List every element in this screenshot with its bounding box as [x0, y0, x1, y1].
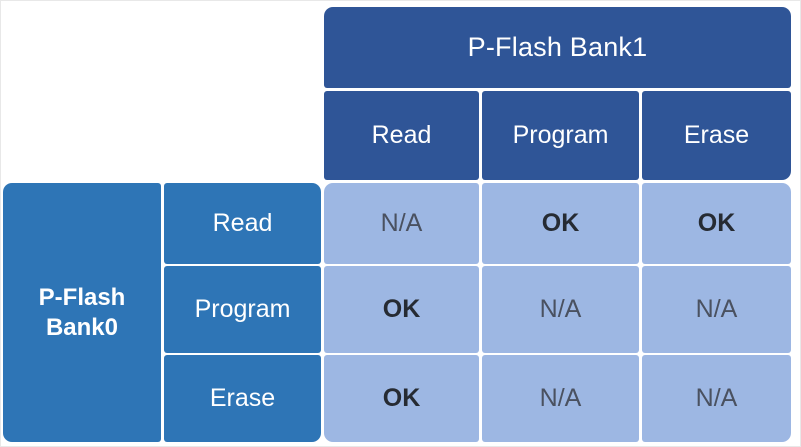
cell-program-erase: N/A	[642, 266, 791, 353]
cell-erase-erase: N/A	[642, 355, 791, 442]
row-header-program: Program	[164, 266, 321, 353]
column-group-header: P-Flash Bank1	[324, 7, 791, 88]
cell-read-erase: OK	[642, 183, 791, 264]
cell-program-program: N/A	[482, 266, 639, 353]
cell-read-read: N/A	[324, 183, 479, 264]
cell-erase-read: OK	[324, 355, 479, 442]
column-header-read: Read	[324, 91, 479, 180]
matrix-corner-blank	[2, 2, 321, 180]
column-header-program: Program	[482, 91, 639, 180]
row-header-erase: Erase	[164, 355, 321, 442]
row-group-header: P-Flash Bank0	[3, 183, 161, 442]
cell-erase-program: N/A	[482, 355, 639, 442]
row-header-read: Read	[164, 183, 321, 264]
cell-read-program: OK	[482, 183, 639, 264]
column-header-erase: Erase	[642, 91, 791, 180]
cell-program-read: OK	[324, 266, 479, 353]
flash-bank-compatibility-matrix: P-Flash Bank1 Read Program Erase P-Flash…	[0, 0, 801, 447]
